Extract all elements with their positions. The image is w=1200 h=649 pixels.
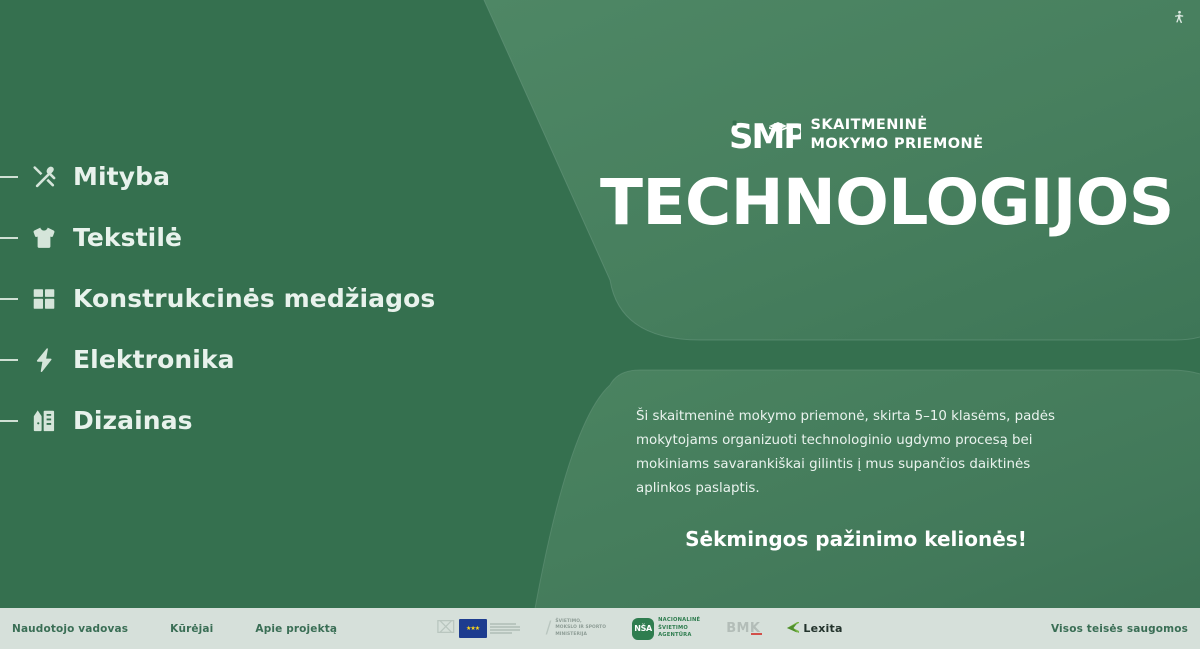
nsa-line-3: AGENTŪRA <box>658 632 700 640</box>
svg-text:SMP: SMP <box>729 117 801 157</box>
cutlery-icon <box>29 162 59 192</box>
page-title: TECHNOLOGIJOS <box>600 170 1112 236</box>
eu-stars: ★★★ <box>459 619 487 638</box>
menu-item-label: Mityba <box>73 162 170 191</box>
menu-item-label: Tekstilė <box>73 223 182 252</box>
blocks-grid-icon <box>29 284 59 314</box>
category-menu: Mityba Tekstilė Konstrukcinės medžiagos … <box>0 146 470 451</box>
menu-dash <box>0 359 18 361</box>
lexita-arrow-icon <box>786 619 800 638</box>
brand-row: SMP SKAITMENINĖ MOKYMO PRIEMONĖ <box>600 112 1112 158</box>
ministry-text: ŠVIETIMO, MOKSLO IR SPORTO MINISTERIJA <box>555 619 606 639</box>
menu-dash <box>0 420 18 422</box>
ministry-line-3: MINISTERIJA <box>555 632 606 639</box>
accessibility-button[interactable] <box>1166 6 1192 32</box>
tshirt-icon <box>29 223 59 253</box>
eu-outline-icon: ⌧ <box>436 620 456 637</box>
lexita-logo: Lexita <box>786 615 842 643</box>
menu-item-dizainas[interactable]: Dizainas <box>0 390 470 451</box>
lexita-text: Lexita <box>803 622 842 635</box>
footer-copyright: Visos teisės saugomos <box>1051 623 1188 635</box>
footer-link-naudotojo-vadovas[interactable]: Naudotojo vadovas <box>12 623 128 635</box>
nsa-badge: NŠA <box>632 618 654 640</box>
brand-line-1: SKAITMENINĖ <box>811 116 984 135</box>
menu-item-tekstile[interactable]: Tekstilė <box>0 207 470 268</box>
ministry-mark-icon: / <box>546 620 552 637</box>
footer-link-apie-projekta[interactable]: Apie projektą <box>255 623 337 635</box>
menu-item-mityba[interactable]: Mityba <box>0 146 470 207</box>
ministry-line-2: MOKSLO IR SPORTO <box>555 625 606 632</box>
description-section: Ši skaitmeninė mokymo priemonė, skirta 5… <box>600 405 1112 551</box>
menu-item-elektronika[interactable]: Elektronika <box>0 329 470 390</box>
brand-text: SKAITMENINĖ MOKYMO PRIEMONĖ <box>811 116 984 154</box>
accessibility-icon <box>1172 9 1187 30</box>
pencil-ruler-icon <box>29 406 59 436</box>
eu-funded-logo: ⌧ ★★★ <box>436 615 520 643</box>
nsa-line-1: NACIONALINĖ <box>658 617 700 625</box>
menu-item-label: Konstrukcinės medžiagos <box>73 284 435 313</box>
menu-item-label: Elektronika <box>73 345 235 374</box>
menu-dash <box>0 176 18 178</box>
footer: Naudotojo vadovas Kūrėjai Apie projektą … <box>0 608 1200 649</box>
eu-flag-icon: ★★★ <box>459 619 487 638</box>
footer-link-kurejai[interactable]: Kūrėjai <box>170 623 213 635</box>
page-root: Mityba Tekstilė Konstrukcinės medžiagos … <box>0 0 1200 649</box>
eu-caption-lines <box>490 623 520 633</box>
brand-line-2: MOKYMO PRIEMONĖ <box>811 135 984 154</box>
footer-links: Naudotojo vadovas Kūrėjai Apie projektą <box>0 623 337 635</box>
menu-dash <box>0 237 18 239</box>
menu-item-label: Dizainas <box>73 406 193 435</box>
hero-section: SMP SKAITMENINĖ MOKYMO PRIEMONĖ TECHNOLO… <box>600 112 1112 236</box>
description-slogan: Sėkmingos pažinimo kelionės! <box>600 527 1112 551</box>
lightning-bolt-icon <box>29 345 59 375</box>
bmk-text: BMK <box>726 621 760 636</box>
nsa-text: NACIONALINĖ ŠVIETIMO AGENTŪRA <box>658 617 700 640</box>
nsa-logo: NŠA NACIONALINĖ ŠVIETIMO AGENTŪRA <box>632 615 700 643</box>
bmk-logo: BMK <box>726 615 760 643</box>
menu-item-konstrukcines-medziagos[interactable]: Konstrukcinės medžiagos <box>0 268 470 329</box>
menu-dash <box>0 298 18 300</box>
description-paragraph: Ši skaitmeninė mokymo priemonė, skirta 5… <box>600 405 1112 500</box>
ministry-logo: / ŠVIETIMO, MOKSLO IR SPORTO MINISTERIJA <box>546 615 606 643</box>
smp-logo-icon: SMP <box>729 112 801 158</box>
footer-logos: ⌧ ★★★ / ŠVIETIMO, MOKSLO IR SPORTO MINIS… <box>436 608 843 649</box>
